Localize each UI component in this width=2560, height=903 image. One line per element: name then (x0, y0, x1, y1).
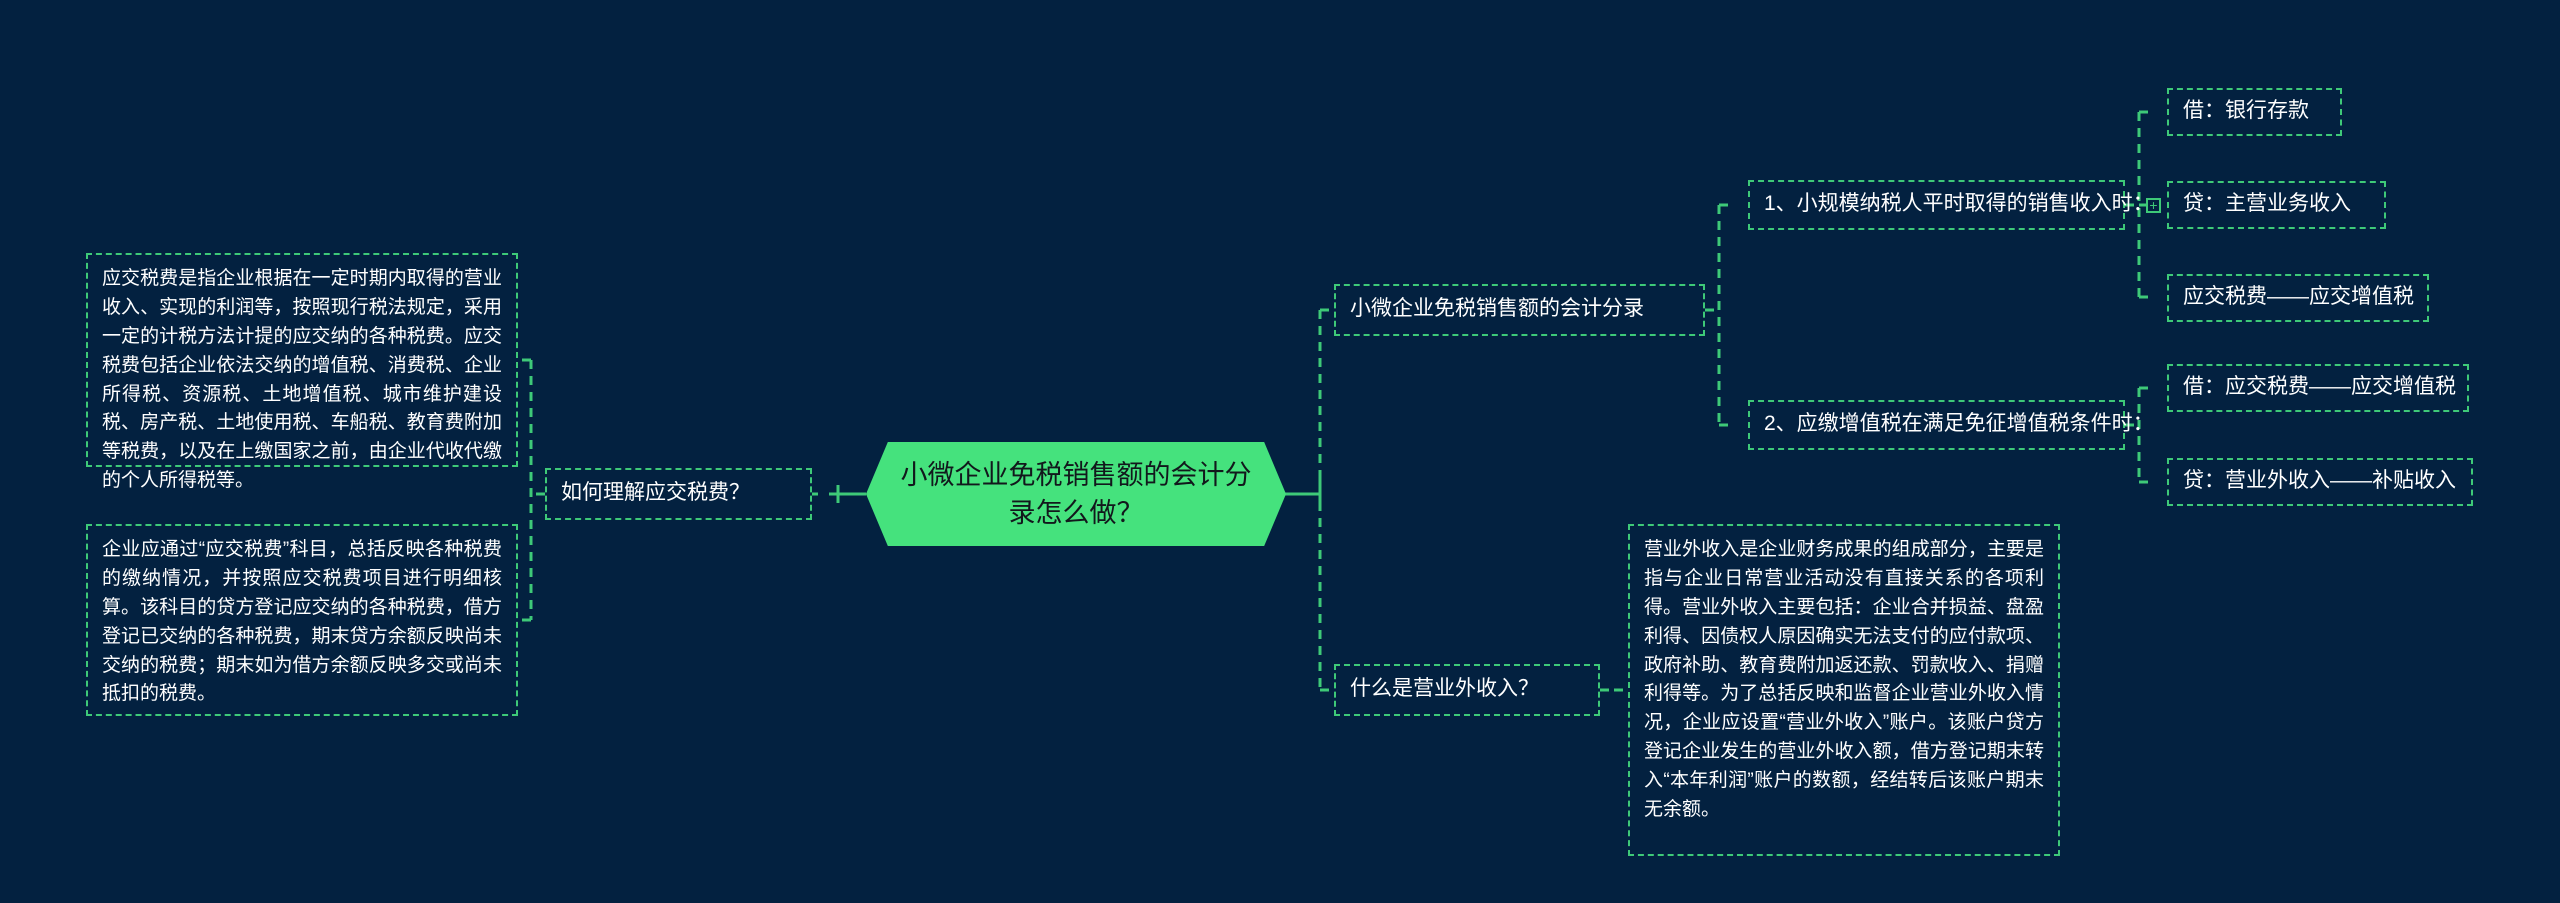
branch-label: 小微企业免税销售额的会计分录 (1350, 296, 1689, 322)
detail-node-tax-payable-account[interactable]: 企业应通过“应交税费”科目，总括反映各种税费的缴纳情况，并按照应交税费项目进行明… (86, 524, 518, 716)
root-node-label: 小微企业免税销售额的会计分录怎么做？ (900, 456, 1252, 533)
branch-node-what-is-non-operating-income[interactable]: 什么是营业外收入？ (1334, 664, 1600, 716)
entry-label: 贷：营业外收入——补贴收入 (2183, 468, 2457, 494)
branch-label: 如何理解应交税费？ (561, 480, 796, 506)
entry-node-credit-main-business-revenue[interactable]: 贷：主营业务收入 (2167, 181, 2386, 229)
detail-node-non-operating-income-definition[interactable]: 营业外收入是企业财务成果的组成部分，主要是指与企业日常营业活动没有直接关系的各项… (1628, 524, 2060, 856)
entry-label: 借：银行存款 (2183, 98, 2326, 124)
expand-plus-icon[interactable]: + (2146, 198, 2161, 213)
sub-node-label: 2、应缴增值税在满足免征增值税条件时： (1764, 411, 2109, 437)
detail-node-tax-payable-definition[interactable]: 应交税费是指企业根据在一定时期内取得的营业收入、实现的利润等，按照现行税法规定，… (86, 253, 518, 467)
sub-node-vat-exemption-condition[interactable]: 2、应缴增值税在满足免征增值税条件时： (1748, 400, 2125, 450)
expand-plus-glyph: + (2149, 197, 2157, 213)
entry-node-tax-payable-vat[interactable]: 应交税费——应交增值税 (2167, 274, 2429, 322)
root-node[interactable]: 小微企业免税销售额的会计分录怎么做？ (866, 442, 1286, 546)
branch-node-small-micro-entries[interactable]: 小微企业免税销售额的会计分录 (1334, 284, 1705, 336)
detail-text: 企业应通过“应交税费”科目，总括反映各种税费的缴纳情况，并按照应交税费项目进行明… (102, 536, 502, 709)
entry-node-debit-bank-deposit[interactable]: 借：银行存款 (2167, 88, 2342, 136)
detail-text: 应交税费是指企业根据在一定时期内取得的营业收入、实现的利润等，按照现行税法规定，… (102, 265, 502, 496)
entry-label: 借：应交税费——应交增值税 (2183, 374, 2453, 400)
sub-node-label: 1、小规模纳税人平时取得的销售收入时： (1764, 191, 2109, 217)
branch-label: 什么是营业外收入？ (1350, 676, 1584, 702)
sub-node-small-scale-taxpayer-revenue[interactable]: 1、小规模纳税人平时取得的销售收入时： (1748, 180, 2125, 230)
entry-node-credit-non-operating-subsidy[interactable]: 贷：营业外收入——补贴收入 (2167, 458, 2473, 506)
entry-label: 贷：主营业务收入 (2183, 191, 2370, 217)
branch-node-understand-tax-payable[interactable]: 如何理解应交税费？ (545, 468, 812, 520)
entry-label: 应交税费——应交增值税 (2183, 284, 2413, 310)
mindmap-canvas: 小微企业免税销售额的会计分录怎么做？ 如何理解应交税费？ 应交税费是指企业根据在… (0, 0, 2560, 903)
detail-text: 营业外收入是企业财务成果的组成部分，主要是指与企业日常营业活动没有直接关系的各项… (1644, 536, 2044, 825)
entry-node-debit-tax-payable-vat[interactable]: 借：应交税费——应交增值税 (2167, 364, 2469, 412)
